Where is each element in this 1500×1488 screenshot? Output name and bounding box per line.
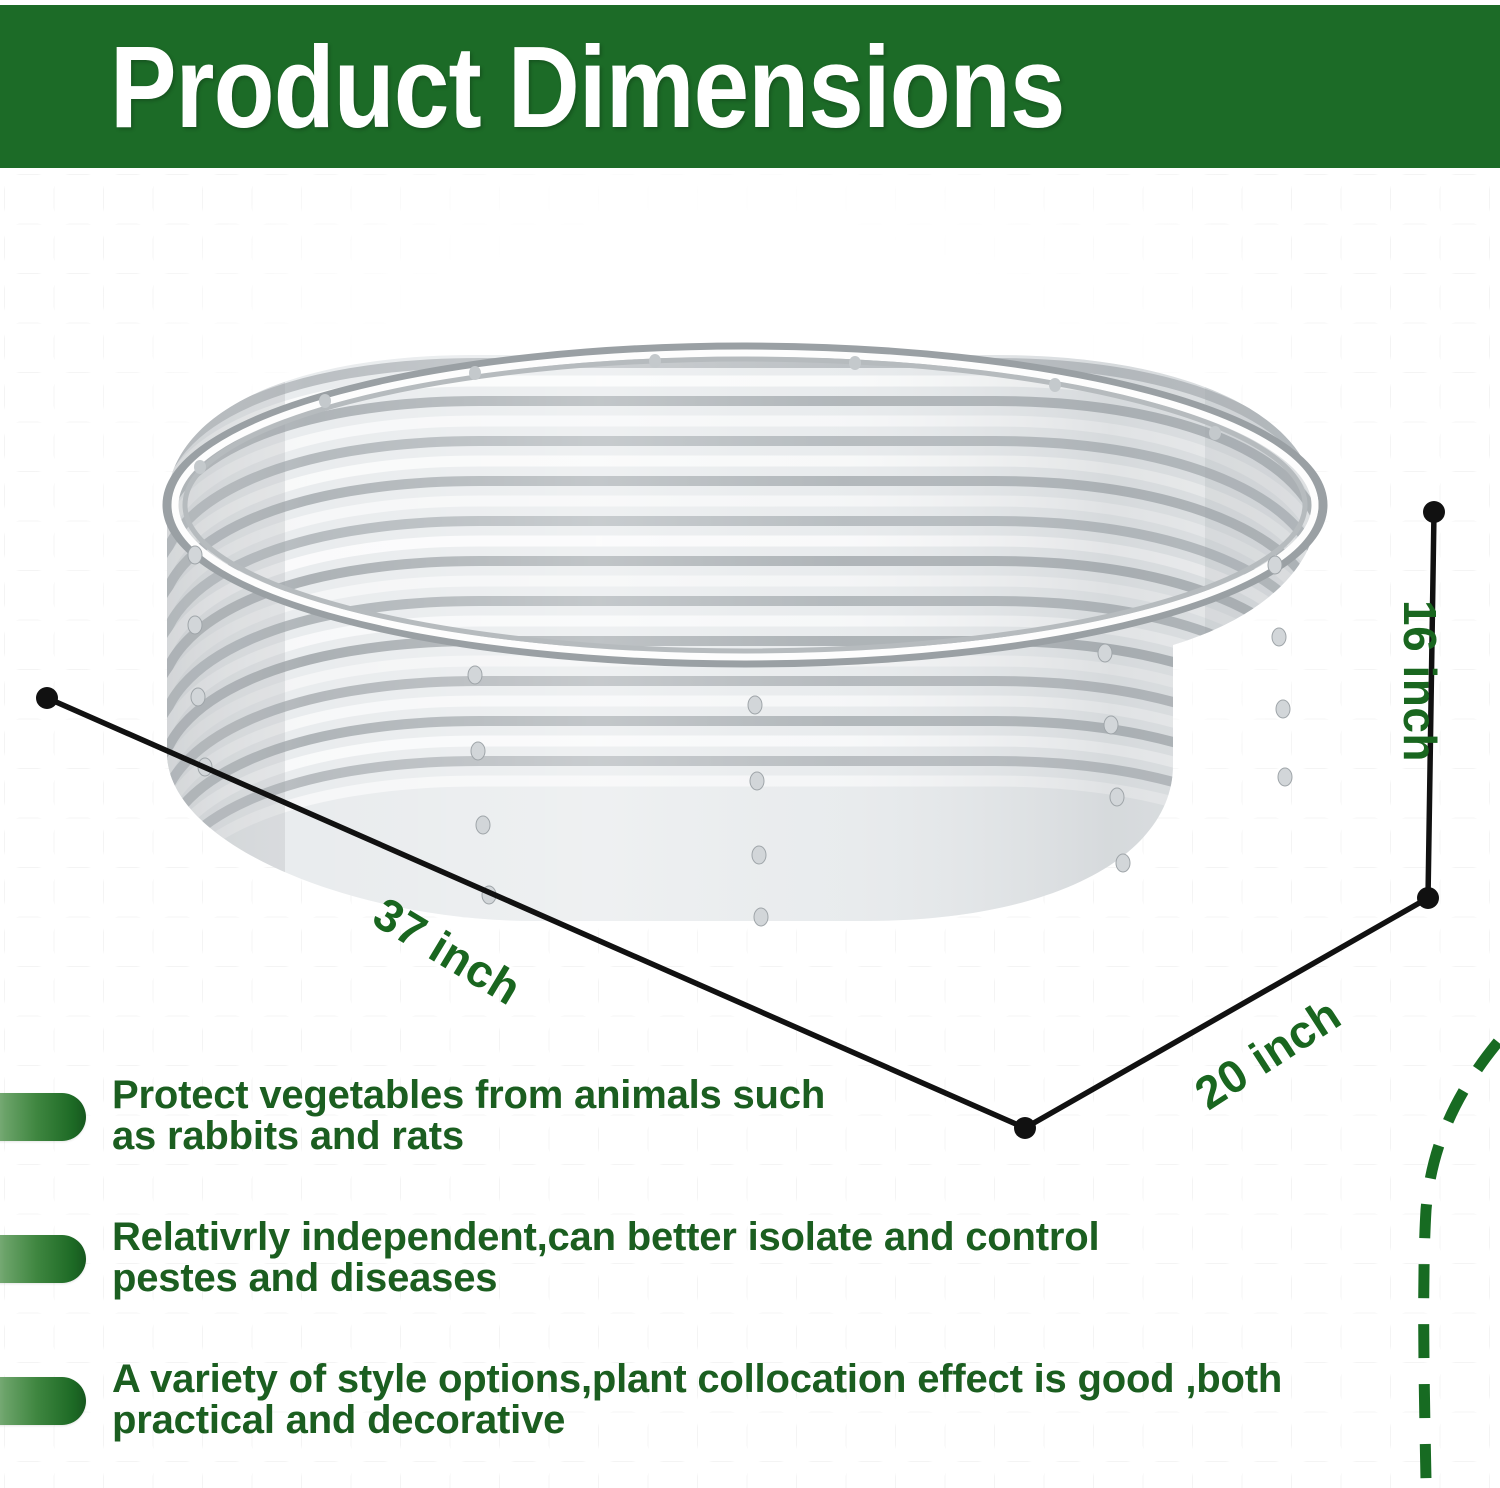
feature-3-line-1: A variety of style options,plant colloca… bbox=[112, 1359, 1452, 1400]
dimension-line-height bbox=[1428, 512, 1434, 898]
feature-2-line-1: Relativrly independent,can better isolat… bbox=[112, 1217, 1452, 1258]
feature-2-line-2: pestes and diseases bbox=[112, 1258, 1452, 1299]
feature-item-2: Relativrly independent,can better isolat… bbox=[0, 1217, 1500, 1359]
feature-1-line-1: Protect vegetables from animals such bbox=[112, 1075, 1452, 1116]
feature-text-1: Protect vegetables from animals such as … bbox=[112, 1075, 1452, 1157]
bullet-pill-icon bbox=[0, 1235, 86, 1283]
page-title: Product Dimensions bbox=[110, 29, 1065, 145]
header-banner: Product Dimensions bbox=[0, 5, 1500, 168]
product-image bbox=[55, 205, 1415, 1095]
feature-list: Protect vegetables from animals such as … bbox=[0, 1075, 1500, 1488]
bullet-pill-icon bbox=[0, 1093, 86, 1141]
feature-text-3: A variety of style options,plant colloca… bbox=[112, 1359, 1452, 1441]
bullet-pill-icon bbox=[0, 1377, 86, 1425]
raised-garden-bed-illustration bbox=[55, 205, 1415, 1095]
product-dimensions-infographic: Product Dimensions bbox=[0, 0, 1500, 1488]
feature-3-line-2: practical and decorative bbox=[112, 1400, 1452, 1441]
feature-item-1: Protect vegetables from animals such as … bbox=[0, 1075, 1500, 1217]
feature-1-line-2: as rabbits and rats bbox=[112, 1116, 1452, 1157]
bed-outer-wall bbox=[135, 345, 1355, 945]
feature-item-3: A variety of style options,plant colloca… bbox=[0, 1359, 1500, 1488]
feature-text-2: Relativrly independent,can better isolat… bbox=[112, 1217, 1452, 1299]
